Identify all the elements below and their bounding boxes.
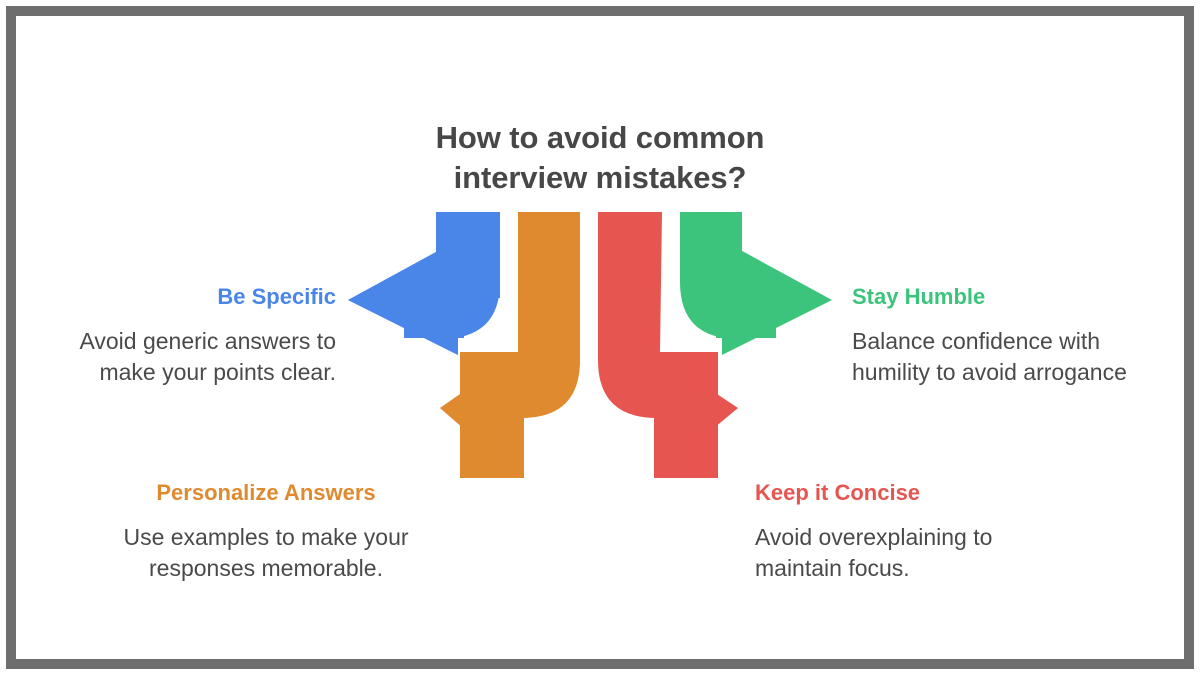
item-keep-it-concise-description-line-2: maintain focus. [755, 553, 1135, 583]
item-stay-humble-description-line-2: humility to avoid arrogance [852, 357, 1188, 387]
item-personalize-answers: Personalize Answers Use examples to make… [80, 480, 452, 583]
item-keep-it-concise: Keep it Concise Avoid overexplaining to … [755, 480, 1135, 583]
item-stay-humble-label: Stay Humble [852, 284, 1188, 310]
item-stay-humble: Stay Humble Balance confidence with humi… [852, 284, 1188, 387]
item-personalize-answers-label: Personalize Answers [80, 480, 452, 506]
curved-arrow-down-right-shaft [654, 352, 718, 478]
item-keep-it-concise-description-line-1: Avoid overexplaining to [755, 522, 1135, 552]
item-be-specific-description-line-2: make your points clear. [10, 357, 336, 387]
page-title-line-2: interview mistakes? [330, 158, 870, 198]
item-personalize-answers-description: Use examples to make your responses memo… [80, 522, 452, 583]
curved-arrow-down-right-body [598, 212, 662, 418]
item-stay-humble-description-line-1: Balance confidence with [852, 326, 1188, 356]
item-stay-humble-description: Balance confidence with humility to avoi… [852, 326, 1188, 387]
item-keep-it-concise-description: Avoid overexplaining to maintain focus. [755, 522, 1135, 583]
item-personalize-answers-description-line-2: responses memorable. [80, 553, 452, 583]
page-title-line-1: How to avoid common [330, 118, 870, 158]
curved-arrow-down-left-shaft [460, 352, 524, 478]
curved-arrow-left-shaft [404, 272, 464, 338]
item-be-specific-description: Avoid generic answers to make your point… [10, 326, 336, 387]
curved-arrow-down-left-body [518, 212, 580, 418]
curved-arrow-right-shaft [716, 272, 776, 338]
item-be-specific-label: Be Specific [10, 284, 336, 310]
infographic-canvas: How to avoid common interview mistakes? … [0, 0, 1200, 675]
item-personalize-answers-description-line-1: Use examples to make your [80, 522, 452, 552]
item-keep-it-concise-label: Keep it Concise [755, 480, 1135, 506]
item-be-specific-description-line-1: Avoid generic answers to [10, 326, 336, 356]
item-be-specific: Be Specific Avoid generic answers to mak… [10, 284, 336, 387]
page-title: How to avoid common interview mistakes? [330, 118, 870, 197]
